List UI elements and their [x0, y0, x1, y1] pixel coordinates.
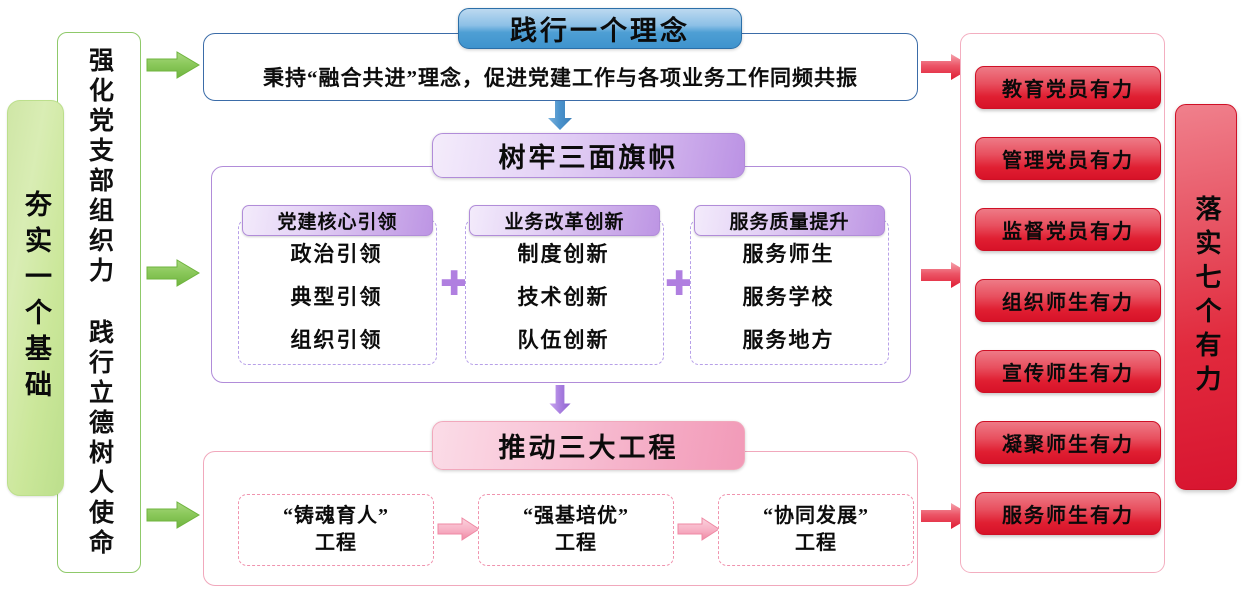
flags-card-1-items: 政治引领 典型引领 组织引领 [238, 238, 435, 354]
flags-card-1[interactable]: 党建核心引领 政治引领 典型引领 组织引领 [238, 205, 435, 363]
project-card-3-line2: 工程 [795, 530, 837, 557]
outcome-button-2[interactable]: 管理党员有力 [975, 137, 1161, 180]
flags-card-2-item-2: 队伍创新 [518, 324, 610, 354]
project-card-3[interactable]: “协同发展” 工程 [718, 494, 914, 566]
left-outline-box: 强化党支部组织力 践行立德树人使命 [57, 32, 141, 573]
arrow-right-green-3 [145, 500, 201, 530]
flags-card-2-items: 制度创新 技术创新 队伍创新 [465, 238, 662, 354]
projects-header-pill[interactable]: 推动三大工程 [432, 421, 745, 470]
outcome-button-5[interactable]: 宣传师生有力 [975, 350, 1161, 393]
flags-header-pill[interactable]: 树牢三面旗帜 [432, 133, 745, 178]
flags-card-1-item-2: 组织引领 [291, 324, 383, 354]
project-card-1-line2: 工程 [315, 530, 357, 557]
flags-card-2-item-0: 制度创新 [518, 238, 610, 268]
flags-card-1-item-1: 典型引领 [291, 281, 383, 311]
foundation-bar: 夯实一个基础 [7, 100, 64, 496]
outcome-button-3[interactable]: 监督党员有力 [975, 208, 1161, 251]
arrow-right-pink-2 [677, 516, 721, 542]
project-card-2-line1: “强基培优” [523, 503, 629, 530]
project-card-1[interactable]: “铸魂育人” 工程 [238, 494, 434, 566]
project-card-1-line1: “铸魂育人” [283, 503, 389, 530]
plus-icon-2: ✚ [665, 270, 691, 298]
idea-header-pill[interactable]: 践行一个理念 [458, 8, 742, 49]
foundation-label: 夯实一个基础 [22, 190, 49, 406]
flags-card-3-item-2: 服务地方 [743, 324, 835, 354]
flags-card-3-item-0: 服务师生 [743, 238, 835, 268]
outcome-button-4[interactable]: 组织师生有力 [975, 279, 1161, 322]
flags-card-1-item-0: 政治引领 [291, 238, 383, 268]
diagram-root: 强化党支部组织力 践行立德树人使命 夯实一个基础 秉持“融合共进”理念，促进党建… [0, 0, 1243, 601]
arrow-right-green-1 [145, 50, 201, 80]
outcome-button-1[interactable]: 教育党员有力 [975, 66, 1161, 109]
flags-card-2-header: 业务改革创新 [469, 205, 660, 236]
flags-card-3-header: 服务质量提升 [694, 205, 885, 236]
left-outline-label: 强化党支部组织力 践行立德树人使命 [87, 47, 112, 559]
outcome-button-7[interactable]: 服务师生有力 [975, 492, 1161, 535]
flags-card-3-items: 服务师生 服务学校 服务地方 [690, 238, 887, 354]
project-card-3-line1: “协同发展” [763, 503, 869, 530]
outcome-button-6[interactable]: 凝聚师生有力 [975, 421, 1161, 464]
project-card-2-line2: 工程 [555, 530, 597, 557]
outcomes-summary-label: 落实七个有力 [1193, 195, 1219, 399]
flags-card-3[interactable]: 服务质量提升 服务师生 服务学校 服务地方 [690, 205, 887, 363]
flags-card-2[interactable]: 业务改革创新 制度创新 技术创新 队伍创新 [465, 205, 662, 363]
idea-body-text: 秉持“融合共进”理念，促进党建工作与各项业务工作同频共振 [204, 62, 917, 92]
project-card-2[interactable]: “强基培优” 工程 [478, 494, 674, 566]
arrow-right-pink-1 [437, 516, 481, 542]
flags-card-1-header: 党建核心引领 [242, 205, 433, 236]
flags-card-2-item-1: 技术创新 [518, 281, 610, 311]
arrow-down-purple [547, 385, 573, 415]
arrow-right-green-2 [145, 258, 201, 288]
outcomes-summary-bar: 落实七个有力 [1175, 104, 1237, 490]
plus-icon-1: ✚ [440, 270, 466, 298]
arrow-down-blue [547, 101, 573, 131]
flags-card-3-item-1: 服务学校 [743, 281, 835, 311]
